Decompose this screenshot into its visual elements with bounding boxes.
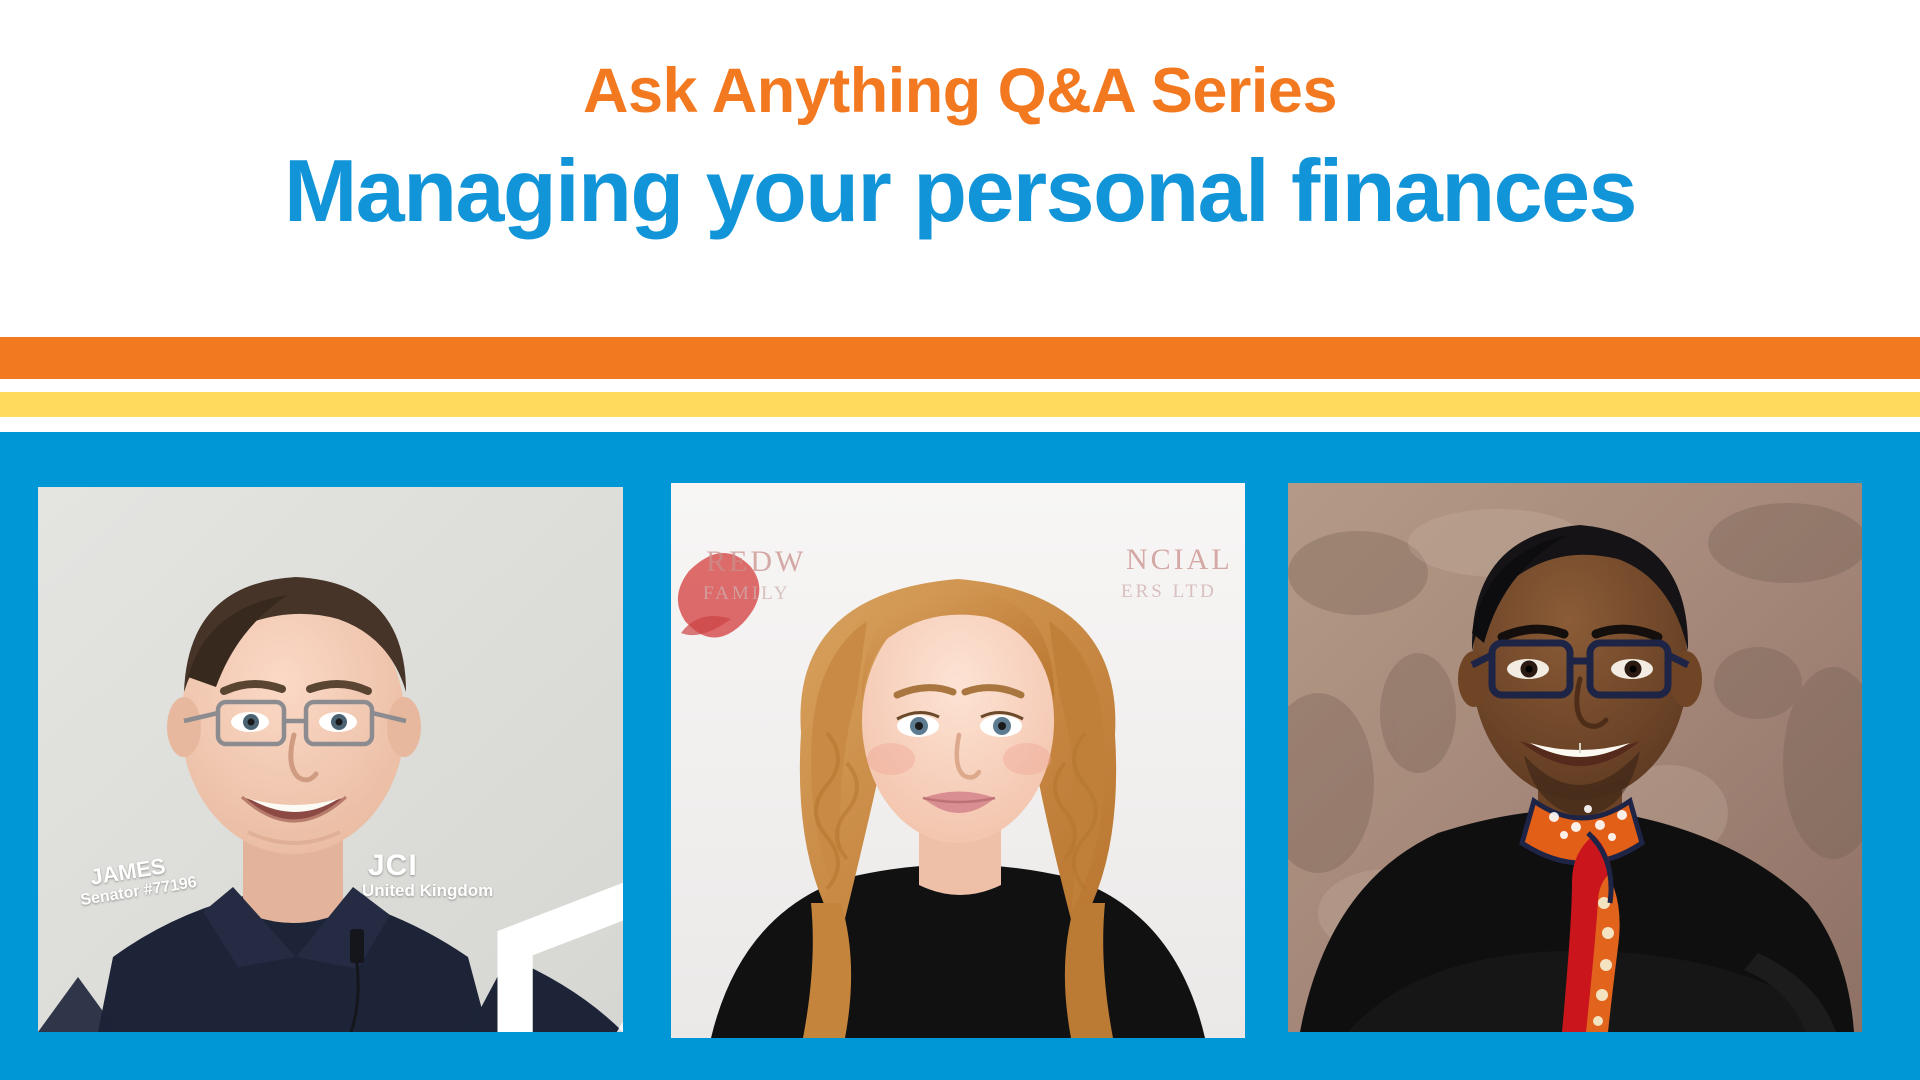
yellow-stripe <box>0 392 1920 417</box>
woman-portrait: REDW FAMILY NCIAL ERS LTD <box>671 483 1245 1038</box>
man-portrait <box>1288 483 1862 1032</box>
james-portrait: JAMES Senator #77196 JCI United Kingdom <box>38 487 623 1032</box>
page-title: Managing your personal finances <box>284 145 1636 237</box>
header-section: Ask Anything Q&A Series Managing your pe… <box>0 0 1920 337</box>
series-title: Ask Anything Q&A Series <box>583 60 1337 123</box>
orange-stripe <box>0 337 1920 379</box>
stripe-gap-upper <box>0 379 1920 392</box>
stripe-gap-lower <box>0 417 1920 432</box>
poster-canvas: Ask Anything Q&A Series Managing your pe… <box>0 0 1920 1080</box>
jci-shield-icon <box>431 847 623 1032</box>
